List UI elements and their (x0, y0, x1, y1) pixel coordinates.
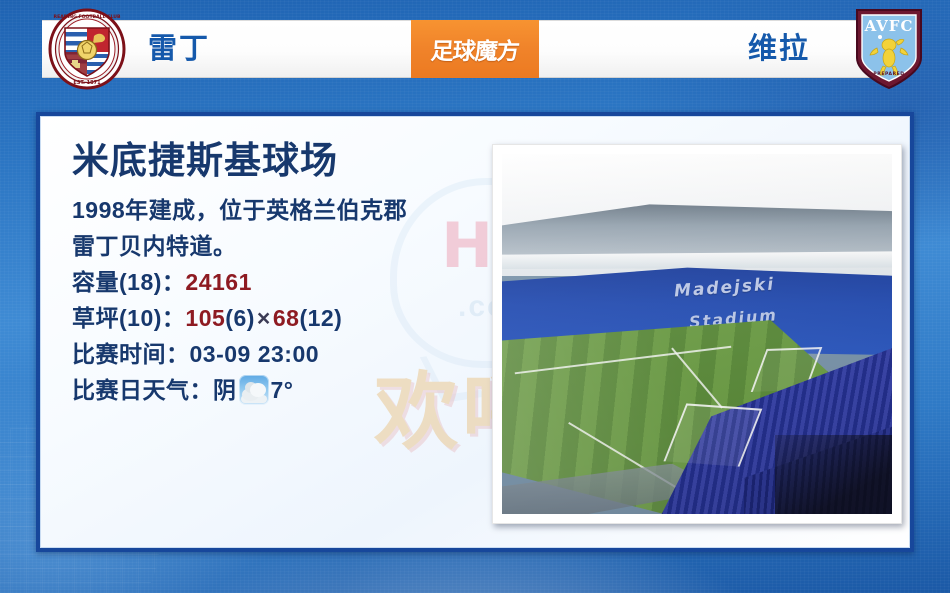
match-time-label: 比赛时间： (72, 341, 190, 367)
aston-villa-crest[interactable]: AVFC PREPARED (852, 4, 926, 92)
brand-logo-text: 足球魔方 (430, 32, 520, 66)
stadium-title: 米底捷斯基球场 (72, 138, 492, 184)
pitch-width: 68 (273, 305, 300, 331)
pitch-width-rank: (12) (299, 305, 342, 331)
stadium-info-block: 米底捷斯基球场 1998年建成，位于英格兰伯克郡 雷丁贝内特道。 容量(18)：… (72, 138, 492, 408)
capacity-value: 24161 (185, 269, 251, 295)
away-team-name: 维拉 (748, 28, 810, 70)
pitch-length-rank: (6) (225, 305, 255, 331)
capacity-row: 容量(18)：24161 (72, 264, 492, 300)
match-time-row: 比赛时间：03-09 23:00 (72, 336, 492, 372)
match-time-value: 03-09 23:00 (190, 341, 320, 367)
svg-text:PREPARED: PREPARED (873, 71, 904, 77)
weather-row: 比赛日天气：阴7° (72, 372, 492, 408)
stadium-info-panel: HH .com 欢呼 米底捷斯基球场 1998年建成，位于英格兰伯克郡 雷丁贝内… (36, 112, 914, 552)
capacity-label: 容量(18)： (72, 269, 185, 295)
cloudy-weather-icon (239, 375, 269, 405)
photo-overall-shading (502, 154, 892, 514)
svg-text:EST. 1871: EST. 1871 (73, 80, 101, 86)
svg-text:AVFC: AVFC (864, 17, 914, 35)
weather-label: 比赛日天气： (72, 377, 213, 403)
pitch-separator: × (255, 305, 273, 331)
weather-condition: 阴 (213, 377, 237, 403)
pitch-row: 草坪(10)：105(6)×68(12) (72, 300, 492, 336)
home-team-name: 雷丁 (148, 28, 210, 70)
madejski-stadium-photo: Madejski Stadium (502, 154, 892, 514)
stadium-description-line-1: 1998年建成，位于英格兰伯克郡 (72, 192, 492, 228)
reading-fc-crest[interactable]: READING FOOTBALL CLUB EST. 1871 (48, 8, 126, 90)
pitch-length: 105 (185, 305, 225, 331)
stadium-photo-frame[interactable]: Madejski Stadium (492, 144, 902, 524)
weather-temperature: 7° (271, 377, 294, 403)
stadium-description-line-2: 雷丁贝内特道。 (72, 228, 492, 264)
svg-text:READING FOOTBALL CLUB: READING FOOTBALL CLUB (54, 14, 121, 20)
brand-logo[interactable]: 足球魔方 (411, 20, 539, 78)
match-header: READING FOOTBALL CLUB EST. 1871 雷丁 足球魔方 … (0, 0, 950, 95)
pitch-label: 草坪(10)： (72, 305, 185, 331)
